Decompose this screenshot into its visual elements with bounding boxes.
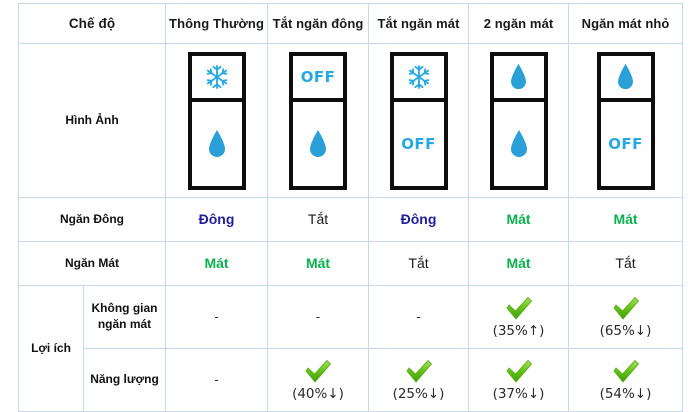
table-row-cooler: Ngăn Mát Mát Mát Tắt Mát Tắt [19,242,683,286]
table-row-benefit-energy: Năng lượng - (40%↓) (25% [19,349,683,412]
table-header-row: Chế độ Thông Thường Tắt ngăn đông Tắt ng… [19,4,683,44]
water-drop-icon [207,129,227,159]
water-drop-icon [616,63,635,91]
fridge-mode-comparison-table: Chế độ Thông Thường Tắt ngăn đông Tắt ng… [18,3,683,412]
cooler-value-small-cooler: Tắt [569,242,683,286]
benefit-value: (65%↓) [569,286,682,348]
image-cell-cooler-off: OFF [369,44,469,198]
water-drop-icon [308,129,328,159]
comparison-table-page: Chế độ Thông Thường Tắt ngăn đông Tắt ng… [0,0,700,412]
status-badge: Đông [199,211,235,227]
status-badge: Mát [506,211,530,227]
benefit-value: (35%↑) [469,286,568,348]
header-mode-cooler-off: Tắt ngăn mát [369,4,469,44]
fridge-top-compartment: OFF [293,56,343,102]
row-label-energy: Năng lượng [84,349,166,412]
fridge-body: OFF [597,52,655,190]
status-badge: Tắt [615,255,635,271]
off-label: OFF [401,135,435,153]
fridge-body [188,52,246,190]
benefit-value: (37%↓) [469,349,568,411]
fridge-diagram: OFF [569,44,682,197]
off-label: OFF [301,68,335,86]
benefit-value: (25%↓) [369,349,468,411]
water-drop-icon [509,63,528,91]
benefit-space-freezer-off: - [268,286,369,349]
status-badge: Mát [306,255,330,271]
header-mode-freezer-off: Tắt ngăn đông [268,4,369,44]
table-row-image: Hình Ảnh [19,44,683,198]
cooler-value-freezer-off: Mát [268,242,369,286]
off-label: OFF [608,135,642,153]
benefit-energy-small-cooler: (54%↓) [569,349,683,412]
freezer-value-cooler-off: Đông [369,198,469,242]
fridge-diagram [166,44,267,197]
benefit-energy-freezer-off: (40%↓) [268,349,369,412]
status-badge: Tắt [308,211,328,227]
snowflake-icon [206,64,228,90]
fridge-body: OFF [390,52,448,190]
fridge-top-compartment [192,56,242,102]
checkmark-icon [504,296,534,322]
benefit-space-cooler-off: - [369,286,469,349]
checkmark-icon [404,359,434,385]
fridge-top-compartment [394,56,444,102]
header-mode-two-cooler: 2 ngăn mát [469,4,569,44]
image-cell-small-cooler: OFF [569,44,683,198]
fridge-top-compartment [601,56,651,102]
fridge-diagram: OFF [369,44,468,197]
row-label-benefits: Lợi ích [19,286,84,412]
fridge-diagram [469,44,568,197]
checkmark-icon [611,359,641,385]
cooler-value-two-cooler: Mát [469,242,569,286]
header-mode-normal: Thông Thường [166,4,268,44]
checkmark-icon [611,296,641,322]
fridge-body [490,52,548,190]
value-dash: - [416,309,420,324]
image-cell-two-cooler [469,44,569,198]
cooler-value-cooler-off: Tắt [369,242,469,286]
benefit-percent: (37%↓) [493,386,545,402]
benefit-percent: (40%↓) [292,386,344,402]
status-badge: Đông [401,211,437,227]
benefit-value: (40%↓) [268,349,368,411]
benefit-energy-cooler-off: (25%↓) [369,349,469,412]
row-label-cooler: Ngăn Mát [19,242,166,286]
row-label-cooler-space: Không gian ngăn mát [84,286,166,349]
fridge-diagram: OFF [268,44,368,197]
benefit-space-two-cooler: (35%↑) [469,286,569,349]
value-dash: - [214,309,218,324]
fridge-body: OFF [289,52,347,190]
checkmark-icon [303,359,333,385]
freezer-value-two-cooler: Mát [469,198,569,242]
benefit-percent: (54%↓) [600,386,652,402]
row-label-freezer: Ngăn Đông [19,198,166,242]
status-badge: Mát [506,255,530,271]
status-badge: Tắt [408,255,428,271]
freezer-value-freezer-off: Tắt [268,198,369,242]
checkmark-icon [504,359,534,385]
fridge-bottom-compartment: OFF [601,102,651,186]
fridge-bottom-compartment [494,102,544,186]
fridge-bottom-compartment: OFF [394,102,444,186]
status-badge: Mát [204,255,228,271]
header-mode-small-cooler: Ngăn mát nhỏ [569,4,683,44]
benefit-percent: (65%↓) [600,323,652,339]
cooler-value-normal: Mát [166,242,268,286]
status-badge: Mát [613,211,637,227]
snowflake-icon [408,64,430,90]
benefit-percent: (25%↓) [393,386,445,402]
freezer-value-normal: Đông [166,198,268,242]
benefit-value: (54%↓) [569,349,682,411]
value-dash: - [316,309,320,324]
fridge-bottom-compartment [293,102,343,186]
benefit-energy-normal: - [166,349,268,412]
image-cell-freezer-off: OFF [268,44,369,198]
benefit-space-normal: - [166,286,268,349]
header-mode-label: Chế độ [19,4,166,44]
image-cell-normal [166,44,268,198]
value-dash: - [214,372,218,387]
row-label-image: Hình Ảnh [19,44,166,198]
water-drop-icon [509,129,529,159]
freezer-value-small-cooler: Mát [569,198,683,242]
table-row-benefit-space: Lợi ích Không gian ngăn mát - - - [19,286,683,349]
benefit-percent: (35%↑) [493,323,545,339]
fridge-top-compartment [494,56,544,102]
table-row-freezer: Ngăn Đông Đông Tắt Đông Mát Mát [19,198,683,242]
benefit-space-small-cooler: (65%↓) [569,286,683,349]
benefit-energy-two-cooler: (37%↓) [469,349,569,412]
fridge-bottom-compartment [192,102,242,186]
